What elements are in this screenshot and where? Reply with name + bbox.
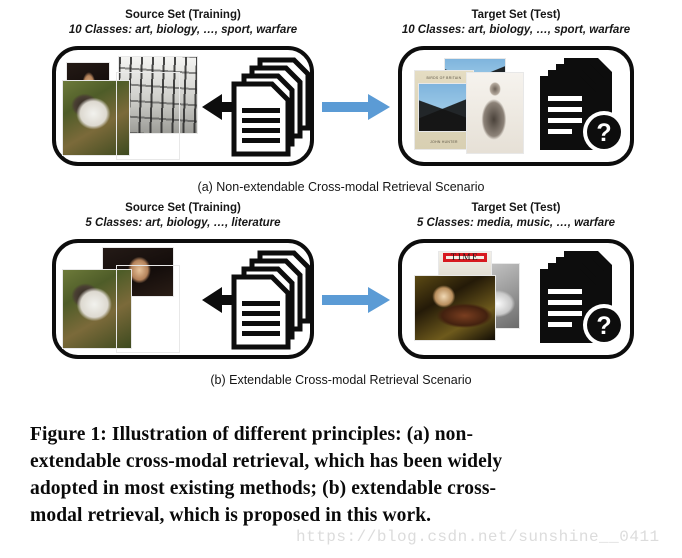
time-logo-text: TIME [451, 252, 479, 262]
target-header-b: Target Set (Test) 5 Classes: media, musi… [398, 201, 634, 231]
source-image-stack-a [62, 54, 202, 162]
scenario-row-b: Source Set (Training) 5 Classes: art, bi… [0, 201, 682, 401]
scenario-row-a: Source Set (Training) 10 Classes: art, b… [0, 8, 682, 208]
subcaption-b: (b) Extendable Cross-modal Retrieval Sce… [0, 373, 682, 387]
source-title-b: Source Set (Training) [52, 201, 314, 215]
target-header-a: Target Set (Test) 10 Classes: art, biolo… [398, 8, 634, 38]
target-image-stack-b: TIME [412, 251, 532, 355]
caption-line-4: modal retrieval, which is proposed in th… [30, 503, 658, 530]
book-cover-footer: JOHN HUNTER [418, 140, 469, 144]
subcaption-a: (a) Non-extendable Cross-modal Retrieval… [0, 180, 682, 194]
source-set-box-b [52, 239, 314, 359]
thumb-book-bird-art [418, 83, 472, 131]
source-header-a: Source Set (Training) 10 Classes: art, b… [52, 8, 314, 38]
source-title-a: Source Set (Training) [52, 8, 314, 22]
target-title-b: Target Set (Test) [398, 201, 634, 215]
target-title-a: Target Set (Test) [398, 8, 634, 22]
source-classes-a: 10 Classes: art, biology, …, sport, warf… [52, 23, 314, 37]
document-stack-query-icon-a: ? [538, 56, 630, 160]
source-set-box-a [52, 46, 314, 166]
thumb-mona-lisa [116, 72, 180, 160]
caption-line-3: adopted in most existing methods; (b) ex… [30, 476, 658, 503]
target-set-box-a: BIRDS OF BRITAIN JOHN HUNTER [398, 46, 634, 166]
source-classes-b: 5 Classes: art, biology, …, literature [52, 216, 314, 230]
thumb-mona-lisa-b [116, 265, 180, 353]
caption-line-2: extendable cross-modal retrieval, which … [30, 449, 658, 476]
target-image-stack-a: BIRDS OF BRITAIN JOHN HUNTER [410, 58, 530, 162]
caption-line-1: Figure 1: Illustration of different prin… [30, 422, 658, 449]
time-logo-band: TIME [443, 253, 487, 261]
target-set-box-b: TIME ? [398, 239, 634, 359]
document-stack-query-icon-b: ? [538, 249, 630, 353]
figure-caption: Figure 1: Illustration of different prin… [30, 422, 658, 530]
document-stack-icon-a [228, 56, 314, 160]
figure-illustration: Source Set (Training) 10 Classes: art, b… [0, 0, 682, 410]
transfer-arrow-b [322, 285, 392, 315]
thumb-sketch-figure [466, 72, 524, 154]
watermark-url: https://blog.csdn.net/sunshine__0411 [296, 528, 660, 546]
thumb-book-cover: BIRDS OF BRITAIN JOHN HUNTER [414, 70, 474, 150]
target-classes-a: 10 Classes: art, biology, …, sport, warf… [398, 23, 634, 37]
source-image-stack-b [62, 247, 202, 355]
question-mark-icon-b: ? [596, 312, 611, 340]
target-classes-b: 5 Classes: media, music, …, warfare [398, 216, 634, 230]
source-header-b: Source Set (Training) 5 Classes: art, bi… [52, 201, 314, 231]
transfer-arrow-a [322, 92, 392, 122]
thumb-guitarist [414, 275, 496, 341]
book-cover-caption: BIRDS OF BRITAIN [418, 76, 469, 80]
question-mark-icon-a: ? [596, 119, 611, 147]
document-stack-icon-b [228, 249, 314, 353]
